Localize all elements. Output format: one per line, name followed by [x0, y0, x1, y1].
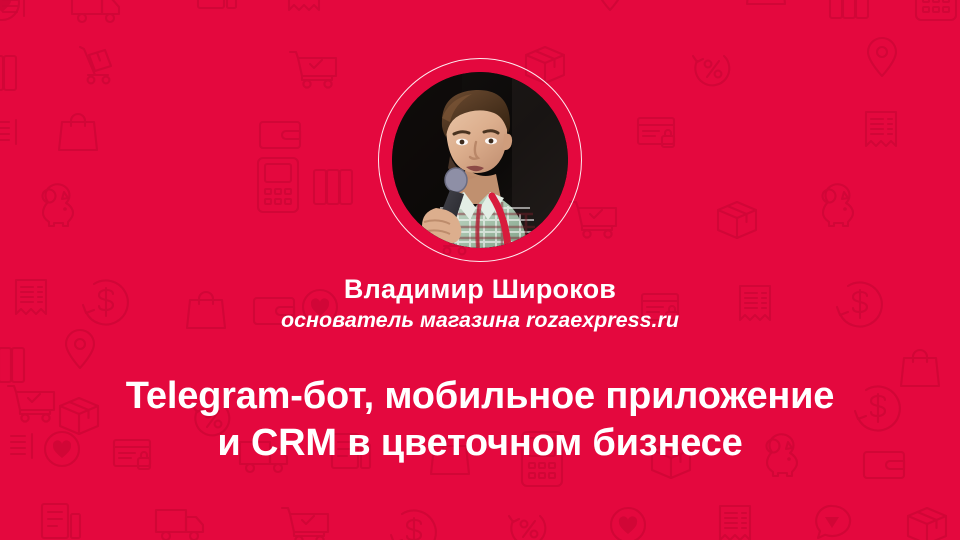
pattern-clipboard-list-icon [42, 504, 80, 538]
pattern-location-pin-icon [66, 330, 94, 368]
pattern-shopping-bag-icon [59, 114, 97, 150]
pattern-delivery-truck-icon [72, 0, 119, 22]
avatar-photo: Фото спикера с микрофоном [392, 72, 568, 248]
pattern-wallet-icon [260, 122, 300, 148]
pattern-secure-document-icon [638, 118, 674, 147]
pattern-receipt-icon [720, 506, 750, 540]
pattern-dollar-refresh-icon [391, 511, 436, 540]
pattern-discount-percent-icon [509, 516, 545, 540]
pattern-receipt-icon [866, 112, 896, 146]
pattern-shopping-cart-check-icon [282, 508, 328, 540]
pattern-package-box-icon [718, 202, 756, 238]
page-title-line-2: и CRM в цветочном бизнесе [0, 420, 960, 467]
pattern-package-box-icon [908, 508, 946, 540]
pattern-speech-bubble-download-icon [816, 506, 850, 538]
pattern-location-pin-icon [596, 0, 624, 10]
pattern-discount-percent-icon [693, 56, 729, 85]
speaker-avatar: Фото спикера с микрофоном [378, 58, 582, 262]
pattern-piggy-bank-icon [823, 184, 854, 226]
pattern-location-pin-icon [868, 38, 896, 76]
pattern-delivery-truck-icon [156, 510, 203, 540]
presentation-slide: Фото спикера с микрофоном [0, 0, 960, 540]
pattern-heart-chat-icon [611, 508, 645, 540]
page-title: Telegram-бот, мобильное приложение и CRM… [0, 373, 960, 467]
pattern-pos-terminal-icon [258, 158, 298, 212]
pattern-shopping-bag-icon [747, 0, 785, 4]
pattern-clipboard-list-icon [198, 0, 236, 8]
pattern-barcode-scanner-icon [3, 0, 24, 16]
pattern-receipt-icon [289, 0, 319, 10]
pattern-bank-cards-icon [314, 170, 352, 204]
pattern-shopping-cart-check-icon [290, 52, 336, 88]
pattern-bank-cards-icon [830, 0, 868, 18]
pattern-bank-cards-icon [0, 56, 16, 90]
speaker-name: Владимир Широков [0, 274, 960, 304]
pattern-hand-truck-icon [80, 47, 111, 83]
pattern-barcode-scanner-icon [0, 120, 16, 144]
page-title-line-1: Telegram-бот, мобильное приложение [0, 373, 960, 420]
pattern-piggy-bank-icon [43, 184, 74, 226]
speaker-role: основатель магазина rozaexpress.ru [0, 307, 960, 333]
pattern-pos-terminal-icon [916, 0, 956, 20]
pattern-heart-chat-icon [0, 0, 19, 20]
